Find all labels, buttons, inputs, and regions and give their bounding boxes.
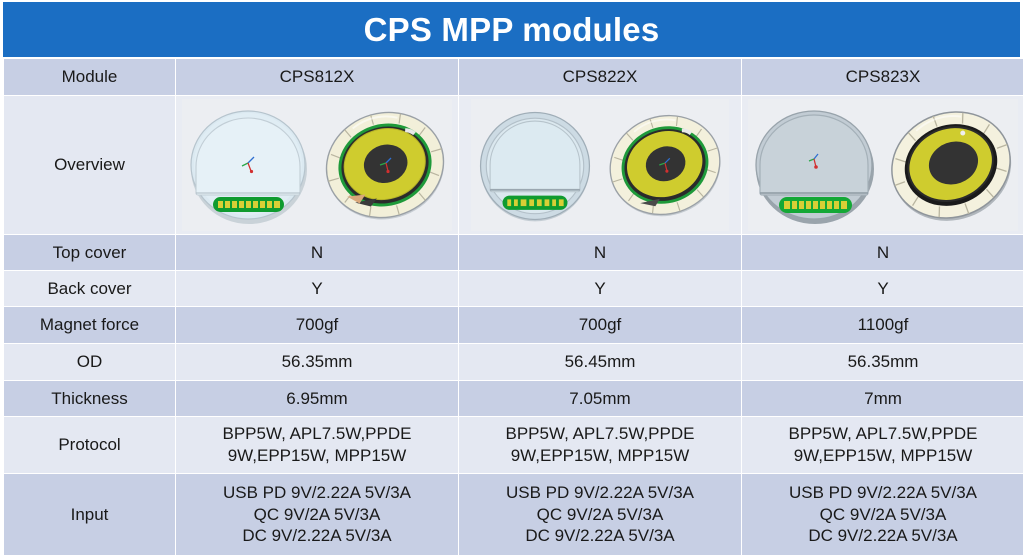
cell-magnet-force-cps823x: 1100gf [742,307,1023,344]
coil-assembly-render-icon-cps812x [318,101,452,229]
cell-top-cover-cps822x: N [459,235,742,271]
cell-thickness-cps822x: 7.05mm [459,381,742,417]
page-title: CPS MPP modules [364,13,660,46]
row-label-back-cover: Back cover [4,271,176,307]
product-render-group-cps812x [182,99,452,231]
protocol-line-1: BPP5W, APL7.5W,PPDE [742,423,1023,445]
column-header-cps823x: CPS823X [742,59,1023,96]
overview-cell-cps812x [176,96,459,235]
cell-magnet-force-cps812x: 700gf [176,307,459,344]
table-row-magnet-force: Magnet force 700gf 700gf 1100gf [4,307,1023,344]
protocol-line-2: 9W,EPP15W, MPP15W [742,445,1023,467]
cover-render-icon-cps812x [182,101,316,229]
column-header-cps812x: CPS812X [176,59,459,96]
cell-od-cps823x: 56.35mm [742,344,1023,381]
protocol-line-1: BPP5W, APL7.5W,PPDE [459,423,741,445]
cell-protocol-cps812x: BPP5W, APL7.5W,PPDE 9W,EPP15W, MPP15W [176,417,459,474]
cell-input-cps822x: USB PD 9V/2.22A 5V/3A QC 9V/2A 5V/3A DC … [459,474,742,556]
input-line-2: QC 9V/2A 5V/3A [742,504,1023,526]
cover-render-icon-cps823x [748,101,882,229]
product-render-group-cps822x [471,99,729,231]
row-label-od: OD [4,344,176,381]
cell-back-cover-cps812x: Y [176,271,459,307]
cell-thickness-cps812x: 6.95mm [176,381,459,417]
protocol-line-2: 9W,EPP15W, MPP15W [459,445,741,467]
table-row-thickness: Thickness 6.95mm 7.05mm 7mm [4,381,1023,417]
protocol-line-2: 9W,EPP15W, MPP15W [176,445,458,467]
coil-assembly-render-icon-cps822x [601,101,729,229]
row-label-thickness: Thickness [4,381,176,417]
input-line-3: DC 9V/2.22A 5V/3A [459,525,741,547]
cell-input-cps812x: USB PD 9V/2.22A 5V/3A QC 9V/2A 5V/3A DC … [176,474,459,556]
cell-input-cps823x: USB PD 9V/2.22A 5V/3A QC 9V/2A 5V/3A DC … [742,474,1023,556]
cell-thickness-cps823x: 7mm [742,381,1023,417]
protocol-line-1: BPP5W, APL7.5W,PPDE [176,423,458,445]
table-row-input: Input USB PD 9V/2.22A 5V/3A QC 9V/2A 5V/… [4,474,1023,556]
row-label-top-cover: Top cover [4,235,176,271]
input-line-3: DC 9V/2.22A 5V/3A [742,525,1023,547]
spec-comparison-table: Module CPS812X CPS822X CPS823X Overview [3,58,1023,556]
cell-od-cps822x: 56.45mm [459,344,742,381]
slide-canvas: CPS MPP modules Module CPS812X CPS822X C… [0,0,1023,556]
table-row-overview: Overview [4,96,1023,235]
row-label-magnet-force: Magnet force [4,307,176,344]
input-line-3: DC 9V/2.22A 5V/3A [176,525,458,547]
table-row-back-cover: Back cover Y Y Y [4,271,1023,307]
product-render-group-cps823x [748,99,1018,231]
table-header-row: Module CPS812X CPS822X CPS823X [4,59,1023,96]
overview-cell-cps823x [742,96,1023,235]
cover-render-icon-cps822x [471,101,599,229]
input-line-2: QC 9V/2A 5V/3A [459,504,741,526]
cell-back-cover-cps822x: Y [459,271,742,307]
input-line-1: USB PD 9V/2.22A 5V/3A [742,482,1023,504]
cell-back-cover-cps823x: Y [742,271,1023,307]
table-row-top-cover: Top cover N N N [4,235,1023,271]
table-row-od: OD 56.35mm 56.45mm 56.35mm [4,344,1023,381]
input-line-1: USB PD 9V/2.22A 5V/3A [459,482,741,504]
input-line-1: USB PD 9V/2.22A 5V/3A [176,482,458,504]
row-label-overview: Overview [4,96,176,235]
row-label-protocol: Protocol [4,417,176,474]
title-banner: CPS MPP modules [3,2,1020,57]
cell-protocol-cps823x: BPP5W, APL7.5W,PPDE 9W,EPP15W, MPP15W [742,417,1023,474]
overview-cell-cps822x [459,96,742,235]
column-header-cps822x: CPS822X [459,59,742,96]
coil-assembly-render-icon-cps823x [884,101,1018,229]
input-line-2: QC 9V/2A 5V/3A [176,504,458,526]
cell-protocol-cps822x: BPP5W, APL7.5W,PPDE 9W,EPP15W, MPP15W [459,417,742,474]
table-row-protocol: Protocol BPP5W, APL7.5W,PPDE 9W,EPP15W, … [4,417,1023,474]
cell-od-cps812x: 56.35mm [176,344,459,381]
cell-magnet-force-cps822x: 700gf [459,307,742,344]
cell-top-cover-cps812x: N [176,235,459,271]
column-header-module: Module [4,59,176,96]
cell-top-cover-cps823x: N [742,235,1023,271]
row-label-input: Input [4,474,176,556]
